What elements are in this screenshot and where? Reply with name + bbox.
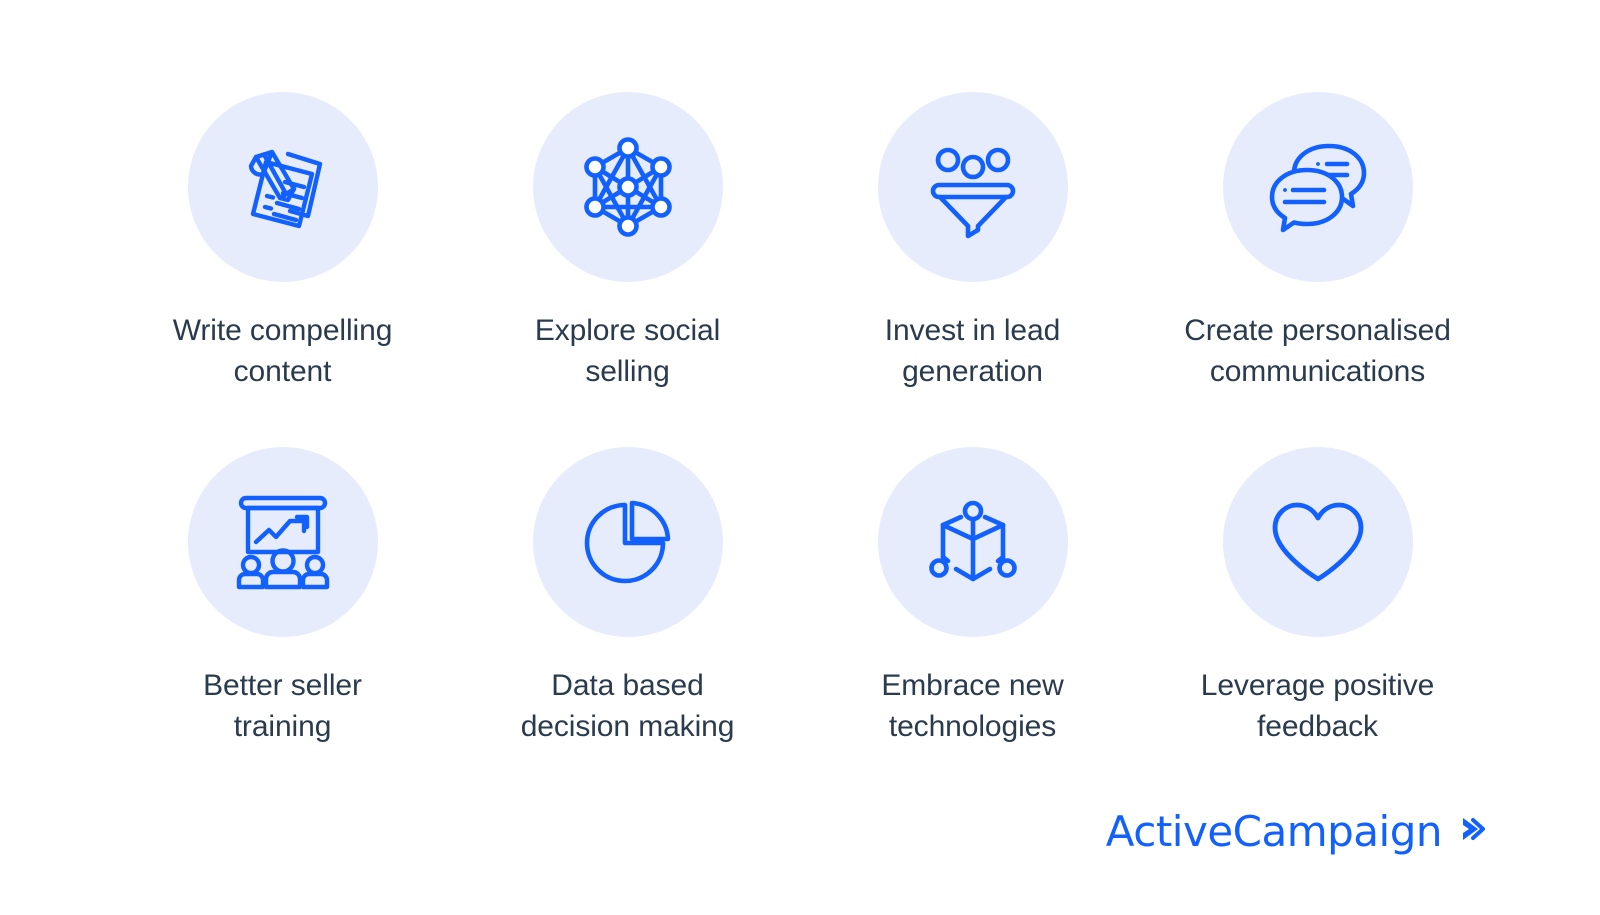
feature-card-embrace-new-technologies: Embrace new technologies	[800, 447, 1145, 802]
icon-badge	[533, 447, 723, 637]
icon-badge	[188, 447, 378, 637]
network-nodes-icon	[573, 132, 683, 242]
icon-badge	[533, 92, 723, 282]
feature-card-label: Data based decision making	[521, 665, 735, 747]
icon-badge	[1223, 447, 1413, 637]
feature-card-better-seller-training: Better seller training	[110, 447, 455, 802]
feature-card-label: Write compelling content	[173, 310, 393, 392]
feature-card-label: Invest in lead generation	[885, 310, 1060, 392]
feature-card-data-based-decision-making: Data based decision making	[455, 447, 800, 802]
icon-badge	[878, 447, 1068, 637]
activecampaign-logo[interactable]: ActiveCampaign	[1106, 811, 1490, 853]
logo-wordmark: ActiveCampaign	[1106, 811, 1442, 853]
feature-card-explore-social-selling: Explore social selling	[455, 92, 800, 447]
cube-nodes-icon	[918, 487, 1028, 597]
feature-card-write-compelling-content: Write compelling content	[110, 92, 455, 447]
speech-bubbles-icon	[1263, 132, 1373, 242]
feature-card-label: Embrace new technologies	[881, 665, 1063, 747]
feature-card-create-personalised-communications: Create personalised communications	[1145, 92, 1490, 447]
feature-card-label: Leverage positive feedback	[1201, 665, 1434, 747]
pie-chart-icon	[573, 487, 683, 597]
icon-badge	[878, 92, 1068, 282]
document-pencil-icon	[228, 132, 338, 242]
feature-card-leverage-positive-feedback: Leverage positive feedback	[1145, 447, 1490, 802]
chevron-right-icon	[1456, 812, 1490, 851]
infographic-canvas: Write compelling content	[0, 0, 1600, 915]
heart-icon	[1263, 487, 1373, 597]
feature-card-label: Better seller training	[203, 665, 362, 747]
funnel-icon	[918, 132, 1028, 242]
icon-badge	[1223, 92, 1413, 282]
icon-badge	[188, 92, 378, 282]
feature-card-invest-in-lead-generation: Invest in lead generation	[800, 92, 1145, 447]
feature-card-label: Explore social selling	[535, 310, 720, 392]
presentation-people-icon	[228, 487, 338, 597]
feature-card-label: Create personalised communications	[1184, 310, 1451, 392]
feature-grid: Write compelling content	[110, 92, 1490, 802]
